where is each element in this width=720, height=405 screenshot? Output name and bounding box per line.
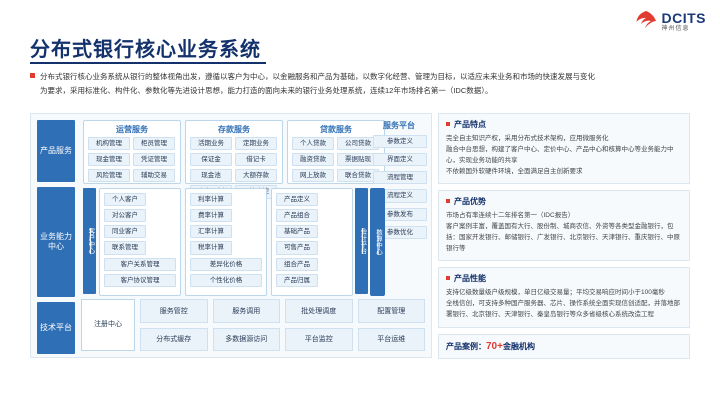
architecture-diagram: 产品服务 业务能力中心 技术平台 运营服务 机构管理 柜员管理 现金管理 凭证管…	[30, 113, 432, 358]
chip-list: 个人客户 对公客户 同业客户 联系管理 客户关系管理 客户协议管理	[100, 189, 180, 291]
layer-label-capability-center: 业务能力中心	[37, 187, 75, 297]
panel-body: 完全自主知识产权，采用分布式技术架构，应用微服务化 融合中台思想，构建了客户中心…	[446, 133, 682, 177]
chip[interactable]: 定期业务	[235, 137, 277, 150]
right-panel-column: 产品特点 完全自主知识产权，采用分布式技术架构，应用微服务化 融合中台思想，构建…	[438, 113, 690, 359]
chip-list: 产品定义 产品组合 基础产品 可售产品 组合产品 产品归属	[272, 189, 352, 291]
label-text: 会计平台	[358, 228, 365, 254]
chip[interactable]: 借记卡	[235, 153, 277, 166]
chip[interactable]: 流程管理	[373, 171, 427, 184]
logo-sub: 神州信息	[662, 26, 707, 32]
page-title: 分布式银行核心业务系统	[30, 33, 261, 62]
service-platform-title: 服务平台	[373, 120, 425, 131]
case-label: 产品案例：	[446, 342, 486, 351]
panel-title: 产品优势	[446, 196, 682, 207]
chip[interactable]: 保证金	[190, 153, 232, 166]
chip-list: 利率计算 费率计算 汇率计算 税率计算 差异化价格 个性化价格	[186, 189, 266, 291]
panel-product-advantages: 产品优势 市场占有率连续十二年排名第一（IDC报告） 客户案例丰富，覆盖国有大行…	[438, 190, 690, 261]
group-customer-capability[interactable]: 个人客户 对公客户 同业客户 联系管理 客户关系管理 客户协议管理	[99, 188, 181, 296]
chip[interactable]: 机构管理	[88, 137, 130, 150]
bullet-square-icon	[446, 276, 450, 280]
chip[interactable]: 个人客户	[104, 193, 146, 206]
group-product-capability[interactable]: 产品定义 产品组合 基础产品 可售产品 组合产品 产品归属	[271, 188, 353, 296]
tech-cell[interactable]: 服务管控	[140, 299, 208, 323]
tech-cell[interactable]: 批处理调度	[285, 299, 353, 323]
chip[interactable]: 产品定义	[276, 193, 318, 206]
chip[interactable]: 柜员管理	[133, 137, 175, 150]
chip[interactable]: 个人贷款	[292, 137, 334, 150]
chip[interactable]: 差异化价格	[190, 258, 262, 271]
group-title: 贷款服务	[288, 121, 384, 137]
label-accounting-platform: 会计平台	[355, 188, 368, 294]
bullet-square-icon	[446, 122, 450, 126]
panel-body: 支持亿级数量级户级规模，单日亿级交易量；平均交易响应时间小于100毫秒 全栈信创…	[446, 287, 682, 320]
registry-center[interactable]: 注册中心	[81, 299, 135, 351]
panel-product-features: 产品特点 完全自主知识产权，采用分布式技术架构，应用微服务化 融合中台思想，构建…	[438, 113, 690, 184]
chip[interactable]: 对公客户	[104, 209, 146, 222]
tech-cell[interactable]: 服务调用	[213, 299, 281, 323]
chip[interactable]: 同业客户	[104, 225, 146, 238]
bullet-square-icon	[446, 199, 450, 203]
logo-text: DCITS 神州信息	[662, 11, 707, 32]
label-customer-center: 客户中心	[83, 188, 96, 294]
chip[interactable]: 可售产品	[276, 241, 318, 254]
chip[interactable]: 现金池	[190, 169, 232, 182]
chip[interactable]: 产品归属	[276, 274, 318, 287]
chip[interactable]: 大额存款	[235, 169, 277, 182]
label-ledger-center: 核算中心	[370, 188, 385, 296]
chip[interactable]: 客户关系管理	[104, 258, 176, 271]
intro-line-2: 为要求，采用标准化、构件化、参数化等先进设计思想，能力打造的面向未来的银行业务处…	[40, 86, 493, 95]
case-suffix: 金融机构	[503, 342, 535, 351]
chip[interactable]: 融资贷款	[292, 153, 334, 166]
label-text: 客户中心	[86, 228, 93, 254]
chip[interactable]: 参数定义	[373, 135, 427, 148]
panel-title-text: 产品性能	[454, 274, 486, 283]
tech-cell[interactable]: 配置管理	[358, 299, 426, 323]
chip-list: 个人贷款 公司贷款 融资贷款 票据贴现 网上放款 联合贷款	[288, 137, 384, 186]
logo-mark-icon	[635, 10, 657, 32]
group-loan-service[interactable]: 贷款服务 个人贷款 公司贷款 融资贷款 票据贴现 网上放款 联合贷款	[287, 120, 385, 184]
group-title: 运营服务	[84, 121, 180, 137]
intro-paragraph: 分布式银行核心业务系统从银行的整体视角出发，遵循以客户为中心，以金融服务和产品为…	[30, 70, 690, 98]
chip[interactable]: 现金管理	[88, 153, 130, 166]
chip[interactable]: 风险管理	[88, 169, 130, 182]
panel-title: 产品性能	[446, 273, 682, 284]
chip[interactable]: 个性化价格	[190, 274, 262, 287]
chip[interactable]: 客户协议管理	[104, 274, 176, 287]
chip[interactable]: 界面定义	[373, 153, 427, 166]
chip[interactable]: 辅助交易	[133, 169, 175, 182]
chip[interactable]: 活期业务	[190, 137, 232, 150]
chip[interactable]: 组合产品	[276, 258, 318, 271]
brand-logo: DCITS 神州信息	[635, 10, 707, 32]
panel-title: 产品特点	[446, 119, 682, 130]
group-operation-service[interactable]: 运营服务 机构管理 柜员管理 现金管理 凭证管理 风险管理 辅助交易	[83, 120, 181, 184]
panel-title-text: 产品特点	[454, 120, 486, 129]
chip[interactable]: 基础产品	[276, 225, 318, 238]
chip[interactable]: 凭证管理	[133, 153, 175, 166]
group-deposit-service[interactable]: 存款服务 活期业务 定期业务 保证金 借记卡 现金池 大额存款 账户限制 司法查…	[185, 120, 283, 184]
panel-case-count: 产品案例：70+金融机构	[438, 334, 690, 359]
panel-title-text: 产品优势	[454, 197, 486, 206]
logo-name: DCITS	[662, 11, 707, 25]
intro-line-1: 分布式银行核心业务系统从银行的整体视角出发，遵循以客户为中心，以金融服务和产品为…	[40, 72, 595, 81]
chip[interactable]: 汇率计算	[190, 225, 232, 238]
chip[interactable]: 费率计算	[190, 209, 232, 222]
label-text: 核算中心	[373, 229, 383, 255]
group-title: 存款服务	[186, 121, 282, 137]
panel-body: 市场占有率连续十二年排名第一（IDC报告） 客户案例丰富，覆盖国有大行、股份制、…	[446, 210, 682, 254]
chip-list: 机构管理 柜员管理 现金管理 凭证管理 风险管理 辅助交易	[84, 137, 180, 186]
chip[interactable]: 联系管理	[104, 241, 146, 254]
tech-cell-grid: 服务管控 服务调用 批处理调度 配置管理 分布式缓存 多数据源访问 平台监控 平…	[140, 299, 425, 351]
chip[interactable]: 税率计算	[190, 241, 232, 254]
tech-cell[interactable]: 平台运维	[358, 328, 426, 352]
title-underline	[30, 62, 266, 64]
chip[interactable]: 产品组合	[276, 209, 318, 222]
layer-label-tech-platform: 技术平台	[37, 302, 75, 354]
chip[interactable]: 利率计算	[190, 193, 232, 206]
panel-product-performance: 产品性能 支持亿级数量级户级规模，单日亿级交易量；平均交易响应时间小于100毫秒…	[438, 267, 690, 327]
tech-cell[interactable]: 多数据源访问	[213, 328, 281, 352]
layer-label-product-service: 产品服务	[37, 120, 75, 182]
group-pricing-capability[interactable]: 利率计算 费率计算 汇率计算 税率计算 差异化价格 个性化价格	[185, 188, 267, 296]
bullet-square-icon	[30, 73, 35, 78]
tech-cell[interactable]: 平台监控	[285, 328, 353, 352]
chip[interactable]: 网上放款	[292, 169, 334, 182]
layer-label-column: 产品服务 业务能力中心 技术平台	[37, 120, 75, 354]
case-value: 70+	[486, 341, 503, 352]
tech-cell[interactable]: 分布式缓存	[140, 328, 208, 352]
slide-page: DCITS 神州信息 分布式银行核心业务系统 分布式银行核心业务系统从银行的整体…	[0, 0, 720, 405]
tech-platform-row: 注册中心 服务管控 服务调用 批处理调度 配置管理 分布式缓存 多数据源访问 平…	[81, 299, 425, 351]
